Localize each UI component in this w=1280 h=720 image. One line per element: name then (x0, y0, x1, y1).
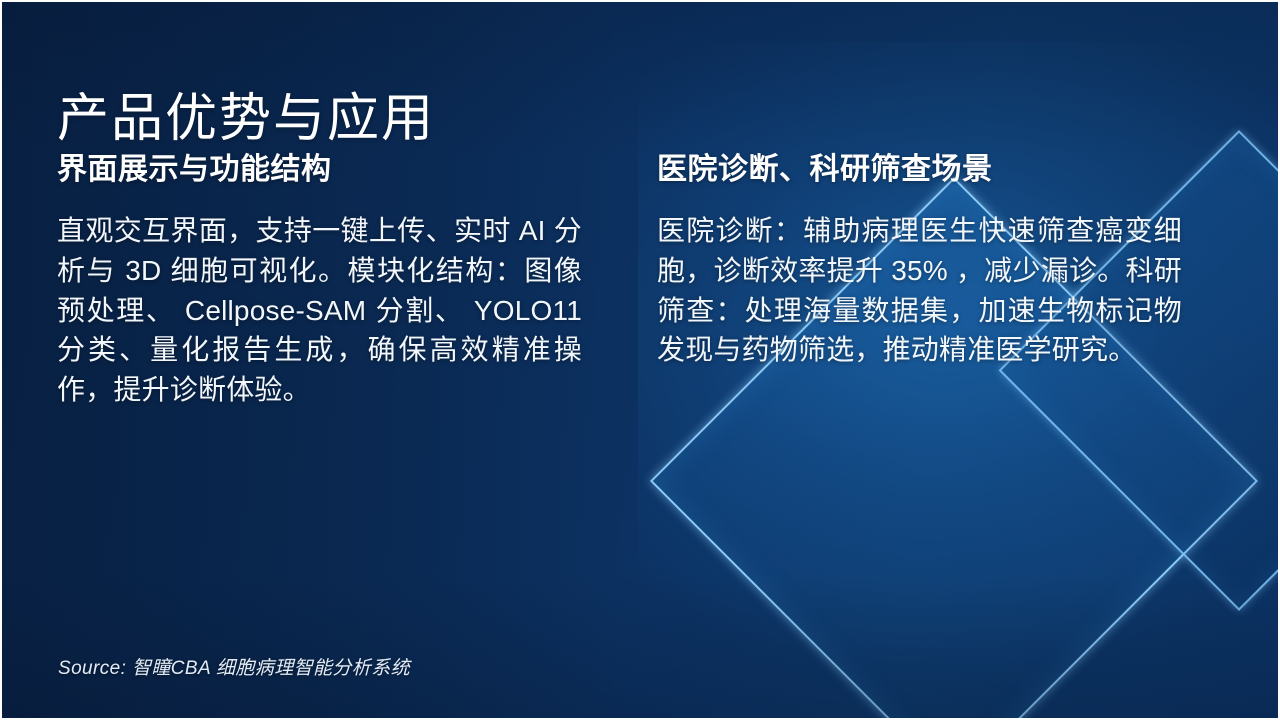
column-body-right: 医院诊断：辅助病理医生快速筛查癌变细胞，诊断效率提升 35% ，减少漏诊。科研筛… (657, 211, 1182, 370)
page-title: 产品优势与应用 (57, 89, 435, 149)
source-label: Source: (58, 658, 126, 679)
column-body-left: 直观交互界面，支持一键上传、实时 AI 分析与 3D 细胞可视化。模块化结构：图… (57, 211, 582, 410)
column-heading-left: 界面展示与功能结构 (57, 150, 582, 189)
presentation-slide: 产品优势与应用 界面展示与功能结构 直观交互界面，支持一键上传、实时 AI 分析… (0, 0, 1280, 720)
source-attribution: Source: 智瞳CBA 细胞病理智能分析系统 (58, 653, 410, 680)
source-value: 智瞳CBA 细胞病理智能分析系统 (132, 658, 410, 679)
column-application-scenarios: 医院诊断、科研筛查场景 医院诊断：辅助病理医生快速筛查癌变细胞，诊断效率提升 3… (657, 150, 1182, 410)
content-columns: 界面展示与功能结构 直观交互界面，支持一键上传、实时 AI 分析与 3D 细胞可… (57, 150, 1227, 410)
column-heading-right: 医院诊断、科研筛查场景 (657, 150, 1182, 189)
slide-content: 产品优势与应用 界面展示与功能结构 直观交互界面，支持一键上传、实时 AI 分析… (2, 2, 1278, 718)
column-interface-features: 界面展示与功能结构 直观交互界面，支持一键上传、实时 AI 分析与 3D 细胞可… (57, 150, 582, 410)
